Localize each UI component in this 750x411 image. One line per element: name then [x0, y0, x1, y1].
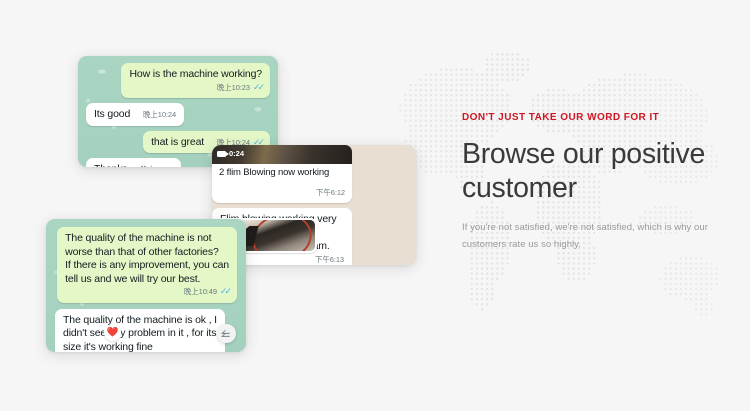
video-thumbnail[interactable]: 0:24	[212, 145, 352, 164]
read-receipt-icon: ✓✓	[253, 83, 262, 92]
message-text: The quality of the machine is not worse …	[65, 232, 229, 286]
message-row: The quality of the machine is not worse …	[55, 227, 237, 303]
message-text: Thanks	[94, 163, 128, 167]
message-text: How is the machine working?	[129, 68, 262, 82]
promo-subcopy: If you're not satisfied, we're not satis…	[462, 219, 730, 253]
timestamp: 晚上10:24	[143, 108, 176, 122]
message-row: The quality of the machine is ok , I did…	[55, 309, 237, 353]
message-row: Its good 晚上10:24	[86, 103, 270, 126]
video-duration: 0:24	[229, 149, 244, 158]
message-row: How is the machine working? 晚上10:23 ✓✓	[86, 63, 270, 98]
chat-bubble-incoming[interactable]: The quality of the machine is ok , I did…	[55, 309, 225, 353]
video-caption: 2 flim Blowing now working	[212, 164, 352, 182]
timestamp: 下午6:13	[315, 253, 344, 266]
eyebrow-label: DON'T JUST TAKE OUR WORD FOR IT	[462, 112, 740, 123]
chat-bubble-outgoing[interactable]: How is the machine working? 晚上10:23 ✓✓	[121, 63, 270, 98]
video-camera-icon	[217, 151, 226, 157]
double-chevron-down-icon	[223, 330, 230, 337]
promo-text-column: DON'T JUST TAKE OUR WORD FOR IT Browse o…	[462, 112, 740, 253]
scroll-to-bottom-button[interactable]	[217, 324, 236, 343]
read-receipt-icon: ✓✓	[220, 287, 229, 296]
chat-bubble-incoming[interactable]: Its good 晚上10:24	[86, 103, 184, 126]
page-title: Browse our positive customer	[462, 137, 740, 205]
message-meta: 晚上10:23 ✓✓	[129, 81, 262, 95]
message-text: that is great	[151, 136, 204, 148]
video-duration-badge: 0:24	[217, 149, 244, 158]
message-meta: 晚上10:24	[143, 108, 176, 122]
heart-reaction-icon[interactable]: ❤️	[104, 324, 121, 341]
message-meta: 下午6:12	[212, 182, 352, 203]
timestamp: 晚上10:24	[140, 163, 173, 167]
message-meta: 晚上10:24	[140, 163, 173, 167]
chat-card-3[interactable]: The quality of the machine is not worse …	[46, 219, 246, 352]
message-text: The quality of the machine is ok , I did…	[63, 314, 217, 353]
timestamp: 晚上10:23	[217, 81, 250, 95]
timestamp: 晚上10:49	[184, 285, 217, 299]
chat-bubble-video[interactable]: 0:24 2 flim Blowing now working 下午6:12	[212, 145, 352, 203]
message-meta: 晚上10:49 ✓✓	[65, 285, 229, 299]
chat-bubble-incoming[interactable]: Thanks 晚上10:24	[86, 158, 181, 167]
testimonial-section: How is the machine working? 晚上10:23 ✓✓ I…	[0, 0, 750, 411]
message-text: Its good	[94, 108, 130, 120]
chat-bubble-outgoing[interactable]: The quality of the machine is not worse …	[57, 227, 237, 303]
timestamp: 下午6:12	[316, 187, 345, 198]
